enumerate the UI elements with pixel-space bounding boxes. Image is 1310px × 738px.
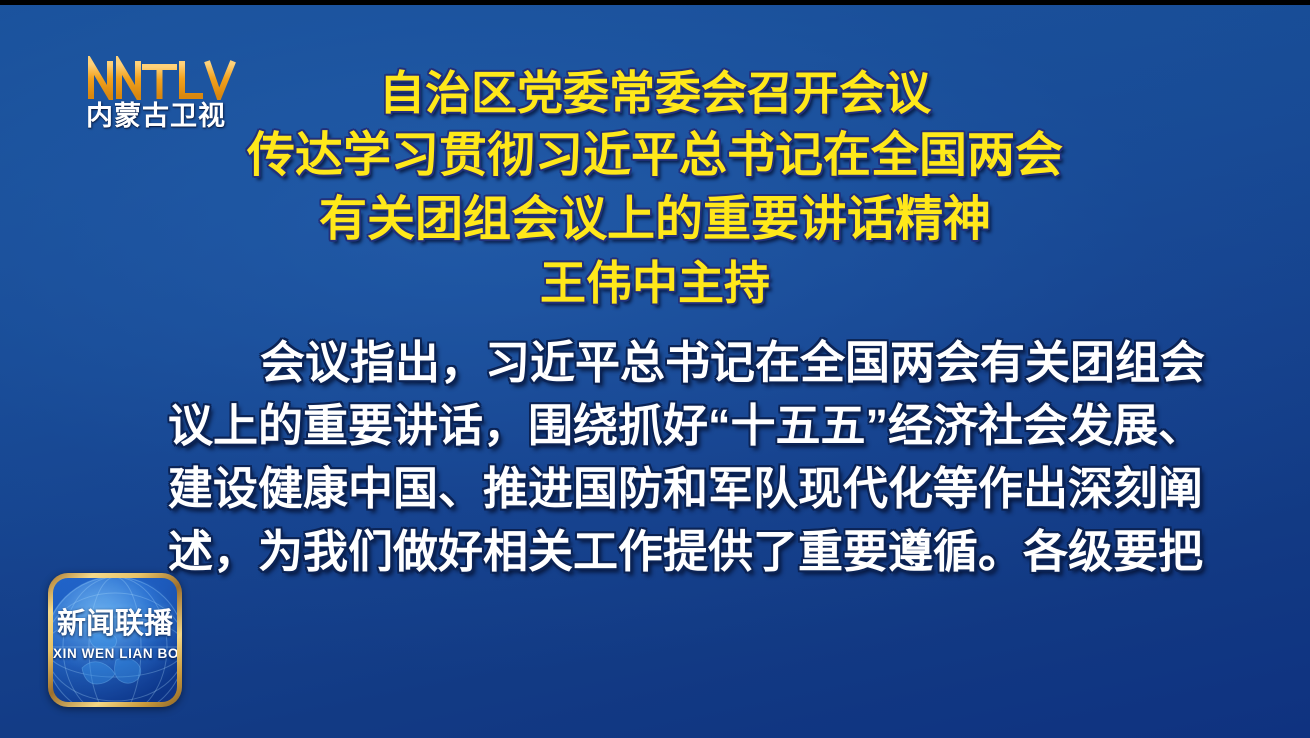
headline-block: 自治区党委常委会召开会议 传达学习贯彻习近平总书记在全国两会 有关团组会议上的重… — [0, 70, 1310, 306]
headline-line-2: 传达学习贯彻习近平总书记在全国两会 — [0, 132, 1310, 180]
broadcast-screen: 内蒙古卫视 自治区党委常委会召开会议 传达学习贯彻习近平总书记在全国两会 有关团… — [0, 0, 1310, 738]
body-line-2: 议上的重要讲话，围绕抓好“十五五”经济社会发展、 — [168, 403, 1168, 448]
body-line-1: 会议指出，习近平总书记在全国两会有关团组会 — [168, 340, 1168, 385]
program-name-pinyin: XIN WEN LIAN BO — [53, 646, 177, 661]
body-line-4: 述，为我们做好相关工作提供了重要遵循。各级要把 — [168, 529, 1168, 574]
program-name-cn: 新闻联播 — [53, 610, 177, 639]
body-paragraph: 会议指出，习近平总书记在全国两会有关团组会 议上的重要讲话，围绕抓好“十五五”经… — [168, 340, 1168, 592]
headline-line-3: 有关团组会议上的重要讲话精神 — [0, 196, 1310, 244]
program-badge: 新闻联播 XIN WEN LIAN BO — [48, 573, 182, 707]
program-badge-inner: 新闻联播 XIN WEN LIAN BO — [53, 578, 177, 702]
letterbox-bar-top — [0, 0, 1310, 5]
headline-line-4: 王伟中主持 — [0, 260, 1310, 306]
headline-line-1: 自治区党委常委会召开会议 — [0, 70, 1310, 116]
program-badge-text: 新闻联播 XIN WEN LIAN BO — [53, 610, 177, 661]
body-line-3: 建设健康中国、推进国防和军队现代化等作出深刻阐 — [168, 466, 1168, 511]
